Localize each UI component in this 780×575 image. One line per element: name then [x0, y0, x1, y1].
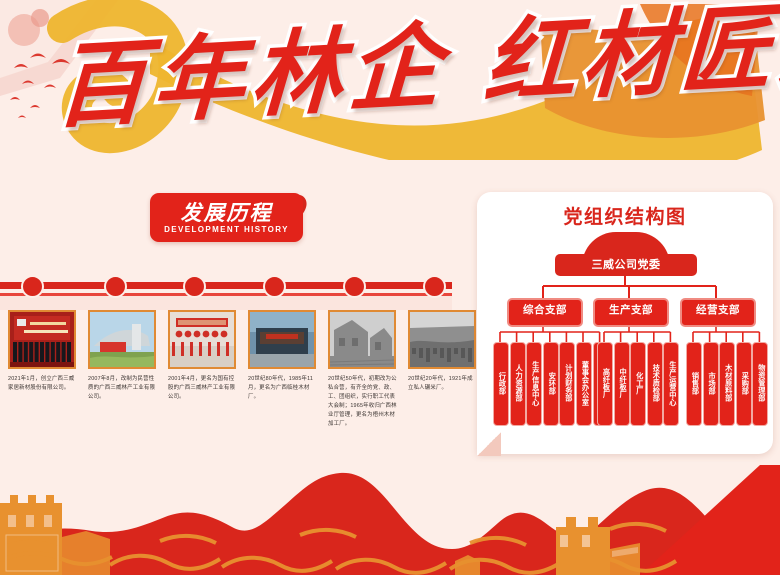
history-card[interactable]: 20世纪50年代，初期改为公私合营，有齐全的党、政、工、团组织，实行职工代表大会…	[328, 310, 396, 429]
poster-title: 百年林企 红材匠造	[55, 22, 755, 157]
org-leaf-label: 木材原料部	[722, 347, 733, 419]
org-leaf-label: 安环部	[545, 347, 556, 419]
panel-corner-fold	[477, 432, 501, 456]
org-leaf-node[interactable]: 化工厂	[630, 342, 646, 426]
org-branch-label: 综合支部	[509, 300, 581, 321]
timeline-dot-1	[21, 275, 44, 298]
org-leaf-node[interactable]: 生产信息中心	[526, 342, 542, 426]
org-branch-label: 生产支部	[595, 300, 667, 321]
org-leaf-node[interactable]: 董事会办公室	[576, 342, 592, 426]
org-leaf-label: 计划财务部	[562, 347, 573, 419]
org-leaf-label: 董事会办公室	[579, 347, 590, 419]
org-leaf-label: 高纤板厂	[600, 347, 611, 419]
org-leaf-node[interactable]: 市场部	[703, 342, 719, 426]
history-photo-group-photo-red-stage	[8, 310, 76, 369]
history-card[interactable]: 20世纪80年代，1985年11月，更名为广西临桂木材厂。	[248, 310, 316, 402]
timeline-dot-6	[423, 275, 446, 298]
timeline-axis-secondary	[0, 293, 452, 296]
history-card[interactable]: 2001年4月，更名为国有控股的广西三威林产工业有限公司。	[168, 310, 236, 402]
history-card[interactable]: 20世纪20年代，1921年成立私人碾米厂。	[408, 310, 476, 393]
development-history-badge: 发展历程 DEVELOPMENT HISTORY	[150, 193, 303, 242]
history-photo-factory-entrance-banner	[168, 310, 236, 369]
org-leaf-node[interactable]: 计划财务部	[559, 342, 575, 426]
org-chart-panel: 党组织结构图 三威公司党委 综合支部生产支部经营支部 行政部人力资源部生产信息中…	[477, 192, 773, 454]
org-leaf-label: 行政部	[496, 347, 507, 419]
history-card[interactable]: 2007年8月，改制为民营性质的广西三威林产工业有限公司。	[88, 310, 156, 402]
timeline-dot-3	[183, 275, 206, 298]
history-caption: 20世纪80年代，1985年11月，更名为广西临桂木材厂。	[248, 375, 318, 402]
badge-label-en: DEVELOPMENT HISTORY	[150, 225, 303, 234]
org-leaf-node[interactable]: 木材原料部	[719, 342, 735, 426]
org-leaf-node[interactable]: 人力资源部	[510, 342, 526, 426]
org-leaf-label: 生产运营中心	[666, 347, 677, 419]
org-leaf-node[interactable]: 采购部	[736, 342, 752, 426]
history-card[interactable]: 2021年1月，创立广西三威家居新材股份有限公司。	[8, 310, 76, 393]
poster-title-text: 百年林企 红材匠造	[52, 0, 757, 152]
org-leaf-node[interactable]: 安环部	[543, 342, 559, 426]
org-leaf-label: 化工厂	[633, 347, 644, 419]
history-caption: 20世纪20年代，1921年成立私人碾米厂。	[408, 375, 478, 393]
history-photo-old-factory-gate	[248, 310, 316, 369]
org-leaf-label: 生产信息中心	[529, 347, 540, 419]
history-caption: 20世纪50年代，初期改为公私合营，有齐全的党、政、工、团组织，实行职工代表大会…	[328, 375, 398, 429]
org-leaf-node[interactable]: 中纤板厂	[614, 342, 630, 426]
history-photo-factory-gate-building	[88, 310, 156, 369]
org-leaf-node[interactable]: 行政部	[493, 342, 509, 426]
org-leaf-label: 人力资源部	[512, 347, 523, 419]
bottom-decoration	[0, 465, 780, 575]
history-caption: 2001年4月，更名为国有控股的广西三威林产工业有限公司。	[168, 375, 238, 402]
org-leaf-node[interactable]: 销售部	[686, 342, 702, 426]
history-caption: 2007年8月，改制为民营性质的广西三威林产工业有限公司。	[88, 375, 158, 402]
history-caption: 2021年1月，创立广西三威家居新材股份有限公司。	[8, 375, 78, 393]
timeline-dot-4	[263, 275, 286, 298]
history-photo-bw-historic-mill	[408, 310, 476, 369]
org-leaf-node[interactable]: 高纤板厂	[597, 342, 613, 426]
badge-label-cn: 发展历程	[150, 197, 303, 227]
org-leaf-node[interactable]: 技术质检部	[647, 342, 663, 426]
timeline-dot-2	[104, 275, 127, 298]
org-branch-1[interactable]: 综合支部	[507, 298, 583, 327]
org-branch-label: 经营支部	[682, 300, 754, 321]
org-leaf-label: 销售部	[689, 347, 700, 419]
org-leaf-node[interactable]: 生产运营中心	[663, 342, 679, 426]
org-leaf-label: 采购部	[738, 347, 749, 419]
org-leaf-node[interactable]: 物资管理部	[752, 342, 768, 426]
org-leaf-label: 物资管理部	[755, 347, 766, 419]
org-leaf-label: 市场部	[705, 347, 716, 419]
org-leaf-label: 技术质检部	[649, 347, 660, 419]
timeline-axis	[0, 282, 452, 289]
history-photo-bw-historic-street	[328, 310, 396, 369]
org-leaf-label: 中纤板厂	[616, 347, 627, 419]
timeline-dot-5	[343, 275, 366, 298]
poster-canvas: 百年林企 红材匠造 发展历程 DEVELOPMENT HISTORY 2021年…	[0, 0, 780, 575]
org-branch-3[interactable]: 经营支部	[680, 298, 756, 327]
org-branch-2[interactable]: 生产支部	[593, 298, 669, 327]
